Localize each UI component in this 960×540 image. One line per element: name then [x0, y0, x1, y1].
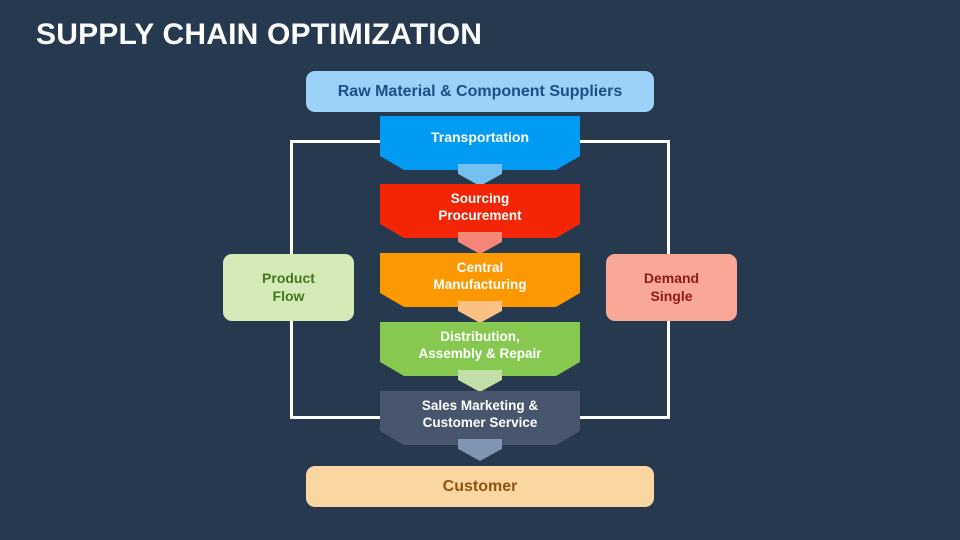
node-customer[interactable]: Customer [306, 466, 654, 507]
flow-step-central-manufacturing[interactable]: Central Manufacturing [380, 253, 580, 307]
flow-step-sourcing-procurement-line2: Procurement [438, 208, 521, 223]
node-demand-single-label: Demand Single [644, 270, 699, 305]
arrow-down-icon-2 [458, 232, 502, 254]
flow-step-transportation-label: Transportation [431, 129, 529, 147]
node-raw-material-suppliers-label: Raw Material & Component Suppliers [338, 82, 622, 102]
flow-step-central-manufacturing-line2: Manufacturing [434, 277, 527, 292]
arrow-down-icon-5 [458, 439, 502, 461]
flow-step-distribution-assembly-repair-line2: Assembly & Repair [418, 346, 541, 361]
flow-step-transportation[interactable]: Transportation [380, 116, 580, 170]
node-demand-single[interactable]: Demand Single [606, 254, 737, 321]
supply-chain-flow-stack: Transportation Sourcing Procurement Cent… [380, 116, 580, 446]
flow-step-distribution-assembly-repair-shape[interactable]: Distribution, Assembly & Repair [380, 322, 580, 376]
arrow-down-icon-3 [458, 301, 502, 323]
flow-step-transportation-line1: Transportation [431, 129, 529, 145]
flow-step-central-manufacturing-shape[interactable]: Central Manufacturing [380, 253, 580, 307]
flow-step-transportation-shape[interactable]: Transportation [380, 116, 580, 170]
node-product-flow-label: Product Flow [262, 270, 315, 305]
node-product-flow[interactable]: Product Flow [223, 254, 354, 321]
flow-step-distribution-assembly-repair[interactable]: Distribution, Assembly & Repair [380, 322, 580, 376]
flow-step-sourcing-procurement-line1: Sourcing [451, 191, 510, 206]
arrow-down-icon-4 [458, 370, 502, 392]
flow-step-sales-marketing-customer-service[interactable]: Sales Marketing & Customer Service [380, 391, 580, 445]
node-raw-material-suppliers[interactable]: Raw Material & Component Suppliers [306, 71, 654, 112]
flow-step-sales-marketing-customer-service-line2: Customer Service [423, 415, 538, 430]
node-demand-single-line2: Single [650, 288, 692, 304]
flow-step-distribution-assembly-repair-line1: Distribution, [440, 329, 520, 344]
node-customer-label: Customer [443, 477, 518, 497]
page-title: SUPPLY CHAIN OPTIMIZATION [36, 18, 482, 52]
flow-step-central-manufacturing-label: Central Manufacturing [434, 259, 527, 294]
flow-step-distribution-assembly-repair-label: Distribution, Assembly & Repair [418, 328, 541, 363]
flow-step-sourcing-procurement[interactable]: Sourcing Procurement [380, 184, 580, 238]
flow-step-sales-marketing-customer-service-line1: Sales Marketing & [422, 398, 538, 413]
arrow-down-icon-1 [458, 164, 502, 186]
flow-step-central-manufacturing-line1: Central [457, 260, 504, 275]
node-product-flow-line1: Product [262, 270, 315, 286]
node-demand-single-line1: Demand [644, 270, 699, 286]
node-product-flow-line2: Flow [273, 288, 305, 304]
flow-step-sales-marketing-customer-service-label: Sales Marketing & Customer Service [422, 397, 538, 432]
flow-step-sales-marketing-customer-service-shape[interactable]: Sales Marketing & Customer Service [380, 391, 580, 445]
slide-canvas: SUPPLY CHAIN OPTIMIZATION Raw Material &… [0, 0, 960, 540]
flow-step-sourcing-procurement-label: Sourcing Procurement [438, 190, 521, 225]
flow-step-sourcing-procurement-shape[interactable]: Sourcing Procurement [380, 184, 580, 238]
